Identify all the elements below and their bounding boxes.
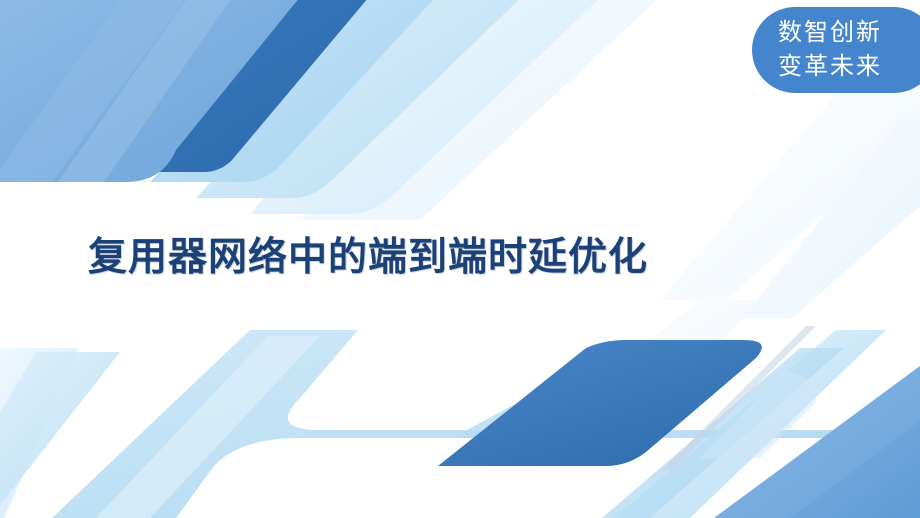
slogan-line-2: 变革未来 bbox=[778, 50, 911, 84]
slogan-line-1: 数智创新 bbox=[778, 16, 911, 50]
title-slide: 数智创新 变革未来 复用器网络中的端到端时延优化 bbox=[0, 0, 920, 518]
page-title: 复用器网络中的端到端时延优化 bbox=[88, 232, 648, 284]
slogan-badge: 数智创新 变革未来 bbox=[752, 7, 920, 93]
